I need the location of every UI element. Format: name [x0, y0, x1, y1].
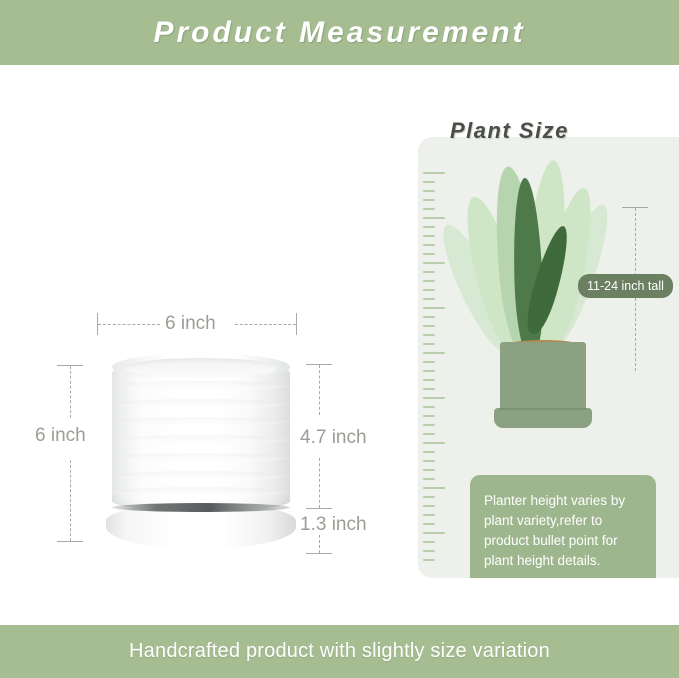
pot-rib — [112, 399, 290, 408]
ruler-tick — [423, 478, 435, 480]
ruler-tick — [423, 226, 435, 228]
ruler-tick — [423, 433, 435, 435]
ruler-tick — [423, 280, 435, 282]
ruler-tick — [423, 451, 435, 453]
ruler-tick — [423, 550, 435, 552]
body-height-bottom-cap — [306, 508, 332, 509]
body-height-bottom-dash — [319, 458, 320, 508]
ruler-tick — [423, 424, 435, 426]
ruler-tick — [423, 397, 445, 399]
ceramic-pot-illustration — [106, 353, 296, 553]
ruler-tick — [423, 505, 435, 507]
ruler-tick — [423, 352, 445, 354]
ruler-tick — [423, 208, 435, 210]
body-height-top-dash — [319, 365, 320, 415]
pot-opening — [123, 358, 279, 378]
plant-size-panel: 11-24 inch tall Planter height varies by… — [418, 137, 679, 578]
saucer-height-bottom-dash — [319, 535, 320, 553]
ruler-tick — [423, 487, 445, 489]
pot-rib — [112, 417, 290, 426]
ruler-tick — [423, 298, 435, 300]
pot-body — [112, 359, 290, 511]
ruler-tick — [423, 253, 435, 255]
ruler-tick — [423, 325, 435, 327]
plant-pot-saucer — [494, 408, 592, 428]
ruler-tick — [423, 289, 435, 291]
ruler-tick — [423, 532, 445, 534]
pot-total-height-label: 6 inch — [35, 425, 86, 447]
ruler-tick — [423, 415, 435, 417]
ruler-tick — [423, 541, 435, 543]
page-title: Product Measurement — [153, 16, 525, 50]
ruler-tick — [423, 406, 435, 408]
ruler-tick — [423, 379, 435, 381]
ruler-tick — [423, 271, 435, 273]
width-left-dash — [98, 324, 160, 325]
ruler-tick — [423, 244, 435, 246]
pot-rib — [112, 453, 290, 462]
ruler-tick — [423, 181, 435, 183]
ruler-tick — [423, 307, 445, 309]
ruler-tick — [423, 172, 445, 174]
footer-banner: Handcrafted product with slightly size v… — [0, 625, 679, 678]
plant-saucer-line — [500, 408, 586, 410]
pot-width-label: 6 inch — [165, 313, 216, 335]
pot-rib — [112, 471, 290, 480]
saucer-height-bottom-cap — [306, 553, 332, 554]
total-height-bottom-dash — [70, 460, 71, 541]
ruler-tick — [423, 388, 435, 390]
pot-rib — [112, 435, 290, 444]
total-height-top-dash — [70, 366, 71, 418]
pot-body-height-label: 4.7 inch — [300, 427, 367, 449]
ruler-tick — [423, 514, 435, 516]
plant-height-badge: 11-24 inch tall — [578, 274, 673, 298]
ruler-tick — [423, 217, 445, 219]
ruler-tick — [423, 442, 445, 444]
pot-measurement-section: 6 inch 6 inch 4.7 inch 1.3 inch — [0, 65, 400, 625]
plant-note-text: Planter height varies by plant variety,r… — [484, 491, 642, 571]
header-banner: Product Measurement — [0, 0, 679, 65]
ruler-tick — [423, 190, 435, 192]
plant-note-box: Planter height varies by plant variety,r… — [470, 475, 656, 578]
ruler-tick — [423, 334, 435, 336]
ruler-tick — [423, 460, 435, 462]
ruler-tick — [423, 370, 435, 372]
pot-rib — [112, 381, 290, 390]
pot-rib — [112, 487, 290, 496]
pot-width-dimension: 6 inch — [97, 313, 297, 339]
pot-saucer-height-label: 1.3 inch — [300, 514, 367, 536]
ruler-tick — [423, 361, 435, 363]
ruler-tick — [423, 496, 435, 498]
width-right-cap — [296, 313, 297, 335]
plant-pot-rim — [500, 342, 586, 354]
ruler-tick — [423, 523, 435, 525]
ruler-tick — [423, 559, 435, 561]
footer-note: Handcrafted product with slightly size v… — [129, 640, 550, 663]
total-height-bottom-cap — [57, 541, 83, 542]
ruler-tick — [423, 316, 435, 318]
ruler-tick — [423, 235, 435, 237]
ruler-tick — [423, 469, 435, 471]
plant-size-title: Plant Size — [450, 118, 569, 144]
ruler-tick — [423, 343, 435, 345]
saucer-shadow-line — [112, 503, 290, 512]
width-right-dash — [235, 324, 296, 325]
ruler-tick — [423, 199, 435, 201]
ruler-tick — [423, 262, 445, 264]
